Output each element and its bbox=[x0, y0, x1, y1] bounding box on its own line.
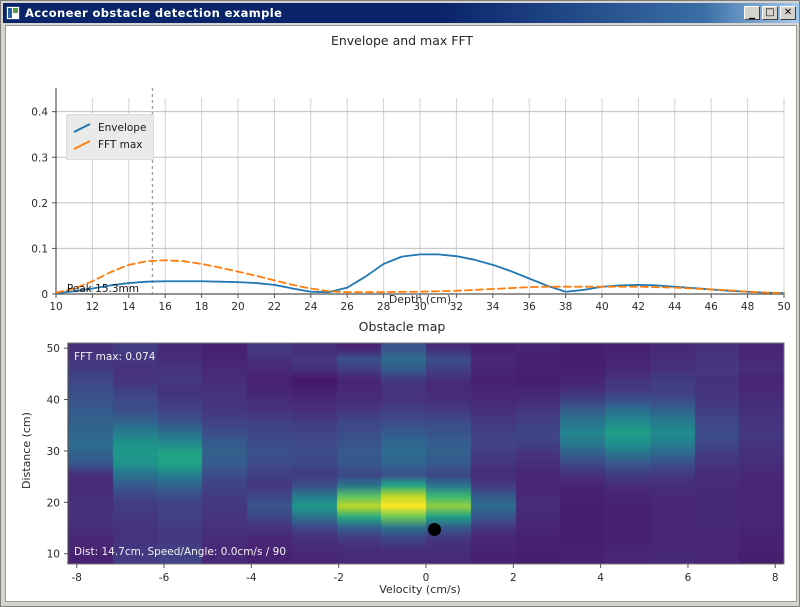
client-area: Envelope and max FFT 1012141618202224262… bbox=[5, 25, 797, 602]
obstacle-map-plot: Obstacle map FFT max: 0.074 Dist: 14.7cm… bbox=[6, 311, 797, 602]
maximize-icon: □ bbox=[763, 7, 777, 19]
envelope-plot-canvas: 1012141618202224262830323436384042444648… bbox=[6, 26, 797, 311]
legend-label-fft-max: FFT max bbox=[98, 139, 143, 151]
legend-item-envelope: Envelope bbox=[72, 120, 146, 137]
axis-label-velocity: Velocity (cm/s) bbox=[24, 583, 797, 596]
envelope-line-icon bbox=[72, 122, 94, 134]
dist-speed-label: Dist: 14.7cm, Speed/Angle: 0.0cm/s / 90 bbox=[74, 546, 286, 558]
legend-item-fft-max: FFT max bbox=[72, 137, 146, 154]
axis-label-distance: Distance (cm) bbox=[20, 412, 33, 489]
minimize-icon: _ bbox=[745, 7, 759, 19]
svg-text:10: 10 bbox=[47, 549, 60, 561]
plot-legend: Envelope FFT max bbox=[66, 114, 154, 160]
svg-text:0.4: 0.4 bbox=[31, 107, 48, 119]
fft-max-label: FFT max: 0.074 bbox=[74, 351, 155, 363]
svg-text:0.2: 0.2 bbox=[31, 198, 48, 210]
legend-label-envelope: Envelope bbox=[98, 122, 146, 134]
svg-text:20: 20 bbox=[47, 497, 60, 509]
close-button[interactable]: ✕ bbox=[780, 6, 796, 20]
window-controls: _ □ ✕ bbox=[744, 6, 796, 20]
plot-title-obstacle-map: Obstacle map bbox=[6, 319, 797, 334]
svg-text:0.3: 0.3 bbox=[31, 152, 48, 164]
svg-text:30: 30 bbox=[47, 446, 60, 458]
svg-text:0.1: 0.1 bbox=[31, 243, 48, 255]
window-title: Acconeer obstacle detection example bbox=[25, 6, 744, 20]
envelope-fft-plot: Envelope and max FFT 1012141618202224262… bbox=[6, 26, 797, 311]
axis-label-depth: Depth (cm) bbox=[24, 293, 797, 306]
app-icon bbox=[6, 6, 20, 20]
maximize-button[interactable]: □ bbox=[762, 6, 778, 20]
svg-text:40: 40 bbox=[47, 395, 60, 407]
obstacle-heatmap[interactable] bbox=[68, 343, 784, 564]
app-window: Acconeer obstacle detection example _ □ … bbox=[0, 0, 800, 607]
title-bar[interactable]: Acconeer obstacle detection example _ □ … bbox=[3, 3, 799, 23]
fft-max-line-icon bbox=[72, 139, 94, 151]
minimize-button[interactable]: _ bbox=[744, 6, 760, 20]
svg-text:50: 50 bbox=[47, 343, 60, 355]
close-icon: ✕ bbox=[781, 7, 795, 19]
